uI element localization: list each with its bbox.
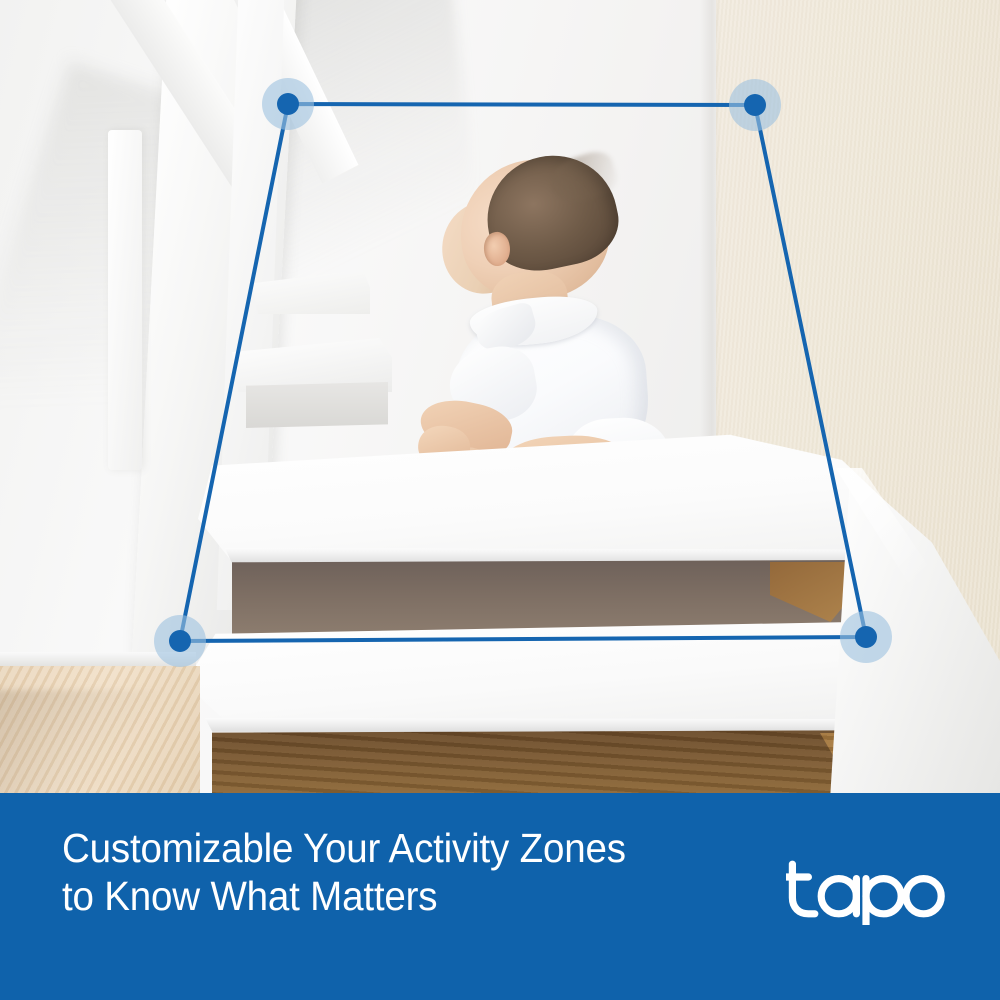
scene-photo: [0, 0, 1000, 793]
handle-top-left[interactable]: [277, 93, 299, 115]
banner-headline: Customizable Your Activity Zones to Know…: [62, 824, 626, 920]
activity-zone-handles[interactable]: [154, 78, 892, 667]
promo-image-root: Customizable Your Activity Zones to Know…: [0, 0, 1000, 1000]
bottom-banner: Customizable Your Activity Zones to Know…: [0, 793, 1000, 1000]
handle-bottom-right[interactable]: [855, 626, 877, 648]
activity-zone-shape[interactable]: [180, 104, 866, 641]
activity-zone-overlay[interactable]: [0, 0, 1000, 793]
handle-bottom-left[interactable]: [169, 630, 191, 652]
tapo-logo: [786, 853, 946, 925]
handle-top-right[interactable]: [744, 94, 766, 116]
